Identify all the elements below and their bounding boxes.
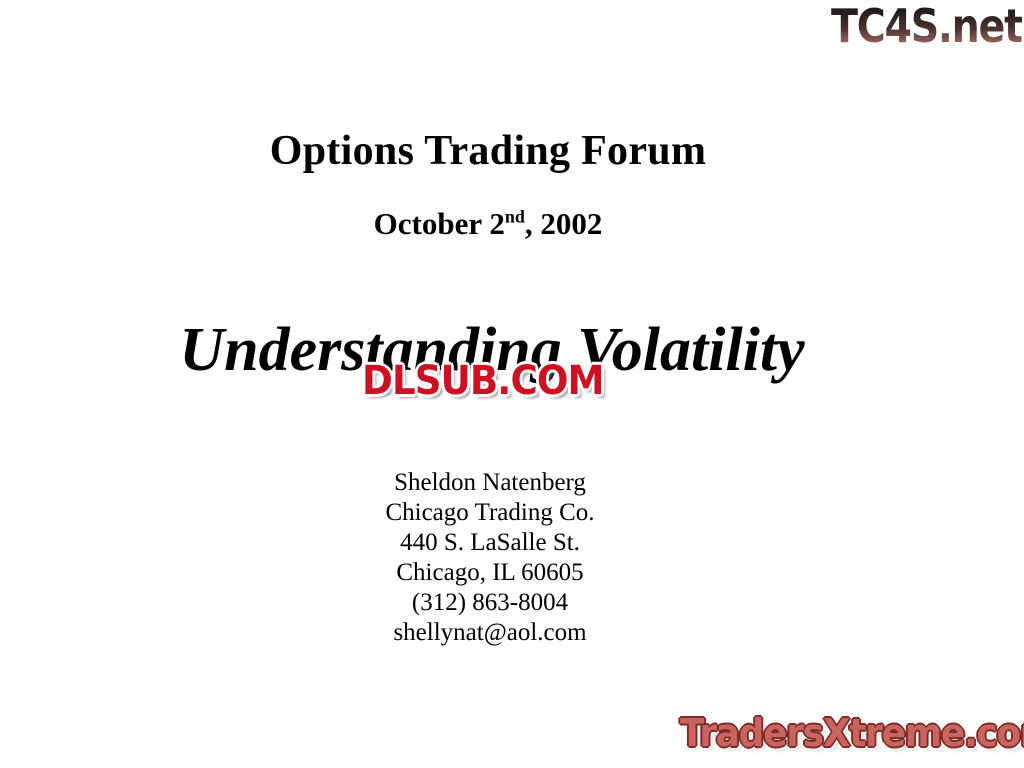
watermark-tradersxtreme: TradersXtreme.com xyxy=(680,712,1024,754)
date-prefix: October 2 xyxy=(374,206,505,241)
speaker-street: 440 S. LaSalle St. xyxy=(0,528,980,558)
presentation-slide: Options Trading Forum October 2nd, 2002 … xyxy=(0,0,1024,768)
watermark-tc4s: TC4S.net xyxy=(831,2,1022,50)
speaker-email: shellynat@aol.com xyxy=(0,618,980,648)
speaker-city-state: Chicago, IL 60605 xyxy=(0,558,980,588)
page-title: Options Trading Forum xyxy=(0,128,976,174)
speaker-contact-block: Sheldon Natenberg Chicago Trading Co. 44… xyxy=(0,468,980,648)
watermark-dlsub: DLSUB.COM xyxy=(362,360,604,402)
presentation-date: October 2nd, 2002 xyxy=(0,207,976,241)
speaker-company: Chicago Trading Co. xyxy=(0,498,980,528)
date-suffix: , 2002 xyxy=(525,206,603,241)
date-ordinal-suffix: nd xyxy=(505,207,525,227)
speaker-phone: (312) 863-8004 xyxy=(0,588,980,618)
speaker-name: Sheldon Natenberg xyxy=(0,468,980,498)
